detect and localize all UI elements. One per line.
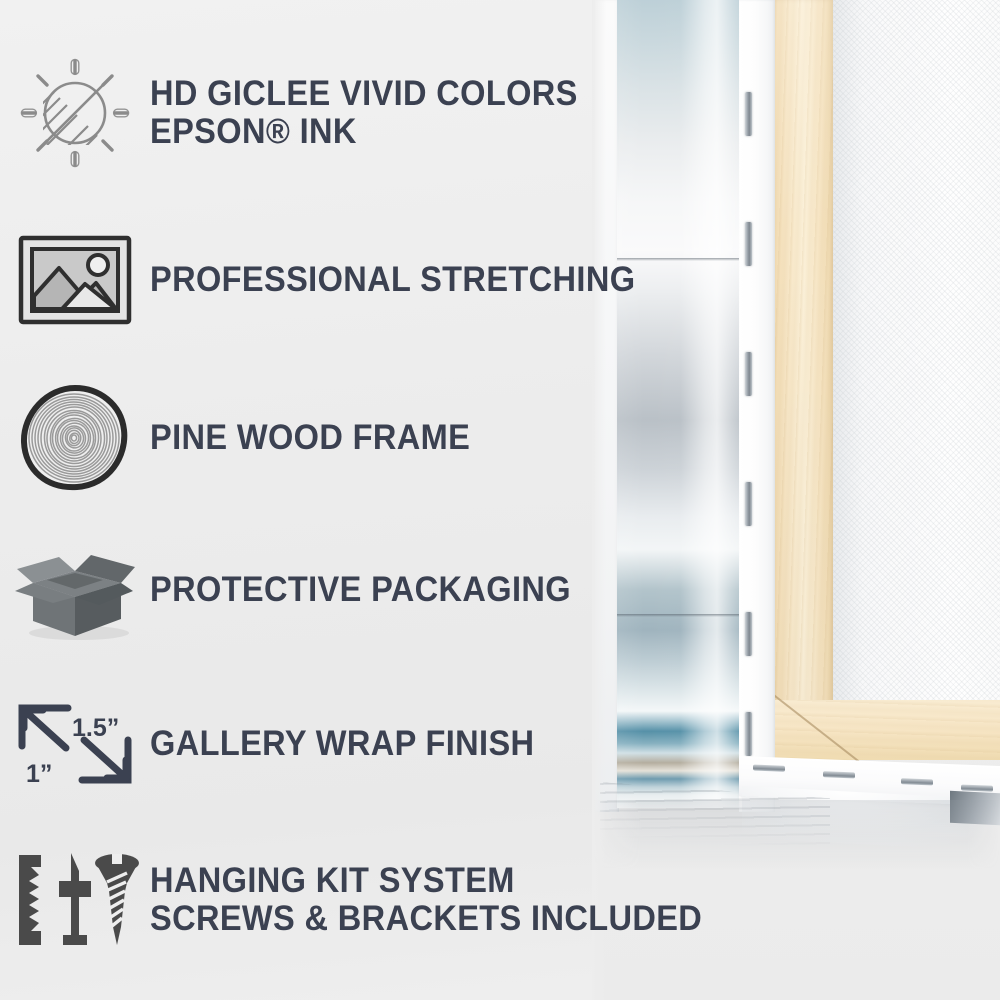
nail-icon <box>59 853 91 945</box>
pine-stretcher-bar-horizontal <box>775 700 1000 760</box>
feature-label: HANGING KIT SYSTEM SCREWS & BRACKETS INC… <box>150 863 702 937</box>
feature-label: GALLERY WRAP FINISH <box>150 726 534 762</box>
feature-label-line: GALLERY WRAP FINISH <box>150 726 534 762</box>
feature-label-line: PROTECTIVE PACKAGING <box>150 572 571 608</box>
screw-icon <box>95 854 139 945</box>
sun-brightness-icon <box>0 53 150 173</box>
staple <box>753 765 785 772</box>
printed-canvas-edge <box>617 0 739 808</box>
feature-row-protective-packaging: PROTECTIVE PACKAGING <box>0 535 620 645</box>
staple <box>823 771 855 778</box>
canvas-product-photo <box>592 0 1000 1000</box>
pine-stretcher-bar-vertical <box>775 0 833 760</box>
feature-row-hd-giclee: HD GICLEE VIVID COLORS EPSON® INK <box>0 58 620 168</box>
sawtooth-bracket-icon <box>19 855 41 945</box>
staple <box>745 712 752 756</box>
feature-label-line: HD GICLEE VIVID COLORS <box>150 76 578 112</box>
feature-label-line: EPSON® INK <box>150 114 578 150</box>
canvas-back-woven-surface <box>833 0 1000 712</box>
feature-label: PROFESSIONAL STRETCHING <box>150 262 635 298</box>
canvas-fold-crease <box>617 614 739 617</box>
depth-dimension-label: 1.5” <box>72 714 119 742</box>
white-canvas-wrap-edge <box>739 0 775 812</box>
staple <box>745 222 752 266</box>
feature-label: HD GICLEE VIVID COLORS EPSON® INK <box>150 76 578 150</box>
feature-label-line: HANGING KIT SYSTEM <box>150 863 702 899</box>
feature-label-line: PROFESSIONAL STRETCHING <box>150 262 635 298</box>
feature-row-hanging-kit: HANGING KIT SYSTEM SCREWS & BRACKETS INC… <box>0 845 620 955</box>
depth-arrows-icon: 1.5” 1” <box>0 694 150 794</box>
border-dimension-label: 1” <box>26 760 52 788</box>
open-box-icon <box>0 539 150 641</box>
feature-list: HD GICLEE VIVID COLORS EPSON® INK PROFES… <box>0 0 620 1000</box>
hanging-hardware-icon <box>0 851 150 949</box>
product-drop-shadow <box>592 800 1000 870</box>
feature-row-pine-wood-frame: PINE WOOD FRAME <box>0 383 620 493</box>
staple <box>745 482 752 526</box>
wood-rings-icon <box>0 386 150 490</box>
staple <box>901 778 933 785</box>
feature-label: PROTECTIVE PACKAGING <box>150 572 571 608</box>
feature-label: PINE WOOD FRAME <box>150 420 470 456</box>
feature-label-line: SCREWS & BRACKETS INCLUDED <box>150 901 702 937</box>
staple <box>745 612 752 656</box>
product-features-infographic: HD GICLEE VIVID COLORS EPSON® INK PROFES… <box>0 0 1000 1000</box>
staple <box>745 92 752 136</box>
feature-row-professional-stretching: PROFESSIONAL STRETCHING <box>0 225 620 335</box>
staple <box>745 352 752 396</box>
feature-label-line: PINE WOOD FRAME <box>150 420 470 456</box>
feature-row-gallery-wrap-finish: 1.5” 1” GALLERY WRAP FINISH <box>0 690 620 798</box>
framed-picture-icon <box>0 232 150 328</box>
